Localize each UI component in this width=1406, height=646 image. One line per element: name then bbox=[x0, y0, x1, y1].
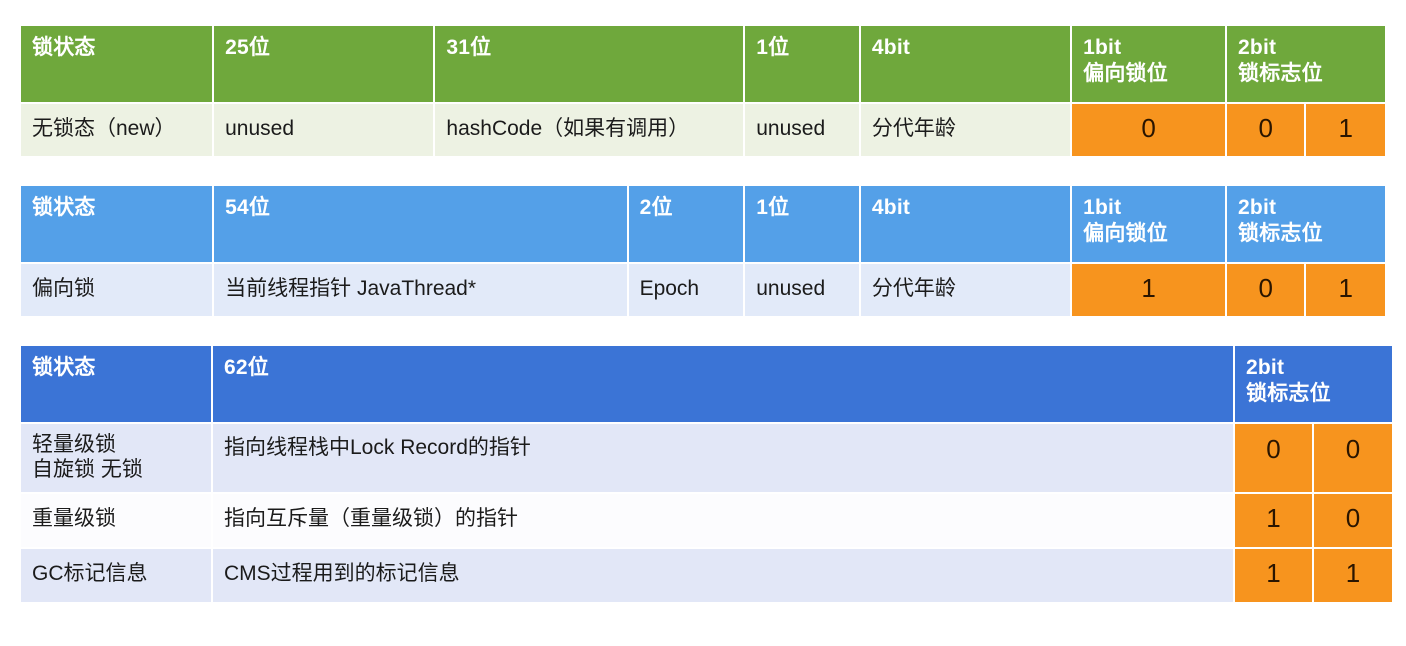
header-text-line1: 1bit bbox=[1083, 196, 1121, 219]
header-text: 31位 bbox=[446, 36, 491, 59]
cell-4bit: 分代年龄 bbox=[861, 264, 1070, 316]
table-header-row: 锁状态 25位 31位 1位 4bit 1bit 偏向锁位 2bit 锁标志位 bbox=[21, 26, 1385, 102]
header-54bit: 54位 bbox=[214, 186, 626, 262]
header-text-line2: 偏向锁位 bbox=[1083, 61, 1215, 87]
cell-epoch: Epoch bbox=[629, 264, 744, 316]
header-text-line2: 锁标志位 bbox=[1246, 381, 1382, 407]
cell-62bit: CMS过程用到的标记信息 bbox=[213, 549, 1233, 602]
header-25bit: 25位 bbox=[214, 26, 433, 102]
cell-lock-flag-bit-2: 1 bbox=[1306, 264, 1385, 316]
header-text: 4bit bbox=[872, 36, 910, 59]
header-1bit-unused: 1位 bbox=[745, 186, 859, 262]
cell-54bit: 当前线程指针 JavaThread* bbox=[214, 264, 626, 316]
header-text-line2: 锁标志位 bbox=[1238, 221, 1375, 247]
cell-lock-flag-bit-2: 1 bbox=[1314, 549, 1392, 602]
header-text-line2: 偏向锁位 bbox=[1083, 221, 1215, 247]
header-2bit-lockflag: 2bit 锁标志位 bbox=[1227, 186, 1385, 262]
table-header-row: 锁状态 62位 2bit 锁标志位 bbox=[21, 346, 1392, 422]
table-row: GC标记信息 CMS过程用到的标记信息 1 1 bbox=[21, 549, 1392, 602]
cell-lock-flag-bit-2: 0 bbox=[1314, 424, 1392, 492]
cell-biased-bit: 0 bbox=[1072, 104, 1225, 156]
header-text-line1: 2bit bbox=[1246, 356, 1284, 379]
header-text: 锁状态 bbox=[32, 36, 96, 59]
header-2bit-lockflag: 2bit 锁标志位 bbox=[1227, 26, 1385, 102]
biased-lock-table: 锁状态 54位 2位 1位 4bit 1bit 偏向锁位 2bit 锁标志位 偏… bbox=[19, 184, 1387, 318]
cell-4bit: 分代年龄 bbox=[861, 104, 1070, 156]
header-text: 4bit bbox=[872, 196, 910, 219]
header-1bit-biased: 1bit 偏向锁位 bbox=[1072, 26, 1225, 102]
header-lock-state: 锁状态 bbox=[21, 26, 212, 102]
no-lock-table: 锁状态 25位 31位 1位 4bit 1bit 偏向锁位 2bit 锁标志位 … bbox=[19, 24, 1387, 158]
mark-word-diagram: 锁状态 25位 31位 1位 4bit 1bit 偏向锁位 2bit 锁标志位 … bbox=[0, 0, 1406, 646]
cell-lock-state: GC标记信息 bbox=[21, 549, 211, 602]
table-row: 偏向锁 当前线程指针 JavaThread* Epoch unused 分代年龄… bbox=[21, 264, 1385, 316]
table-header-row: 锁状态 54位 2位 1位 4bit 1bit 偏向锁位 2bit 锁标志位 bbox=[21, 186, 1385, 262]
table-row: 无锁态（new） unused hashCode（如果有调用） unused 分… bbox=[21, 104, 1385, 156]
header-31bit: 31位 bbox=[435, 26, 743, 102]
cell-lock-flag-bit-2: 1 bbox=[1306, 104, 1385, 156]
cell-1bit: unused bbox=[745, 264, 859, 316]
cell-25bit: unused bbox=[214, 104, 433, 156]
header-4bit-age: 4bit bbox=[861, 186, 1070, 262]
header-2bit-lockflag: 2bit 锁标志位 bbox=[1235, 346, 1392, 422]
header-text: 25位 bbox=[225, 36, 270, 59]
cell-1bit: unused bbox=[745, 104, 859, 156]
table-row: 轻量级锁 自旋锁 无锁 指向线程栈中Lock Record的指针 0 0 bbox=[21, 424, 1392, 492]
cell-lock-flag-bit-1: 0 bbox=[1227, 104, 1304, 156]
header-text: 62位 bbox=[224, 356, 269, 379]
header-1bit-unused: 1位 bbox=[745, 26, 859, 102]
header-text: 锁状态 bbox=[32, 356, 96, 379]
header-1bit-biased: 1bit 偏向锁位 bbox=[1072, 186, 1225, 262]
lightweight-heavyweight-table: 锁状态 62位 2bit 锁标志位 轻量级锁 自旋锁 无锁 指向线程栈中Lock… bbox=[19, 344, 1394, 604]
cell-lock-flag-bit-2: 0 bbox=[1314, 494, 1392, 547]
cell-lock-state: 轻量级锁 自旋锁 无锁 bbox=[21, 424, 211, 492]
cell-62bit: 指向线程栈中Lock Record的指针 bbox=[213, 424, 1233, 492]
header-2bit-epoch: 2位 bbox=[629, 186, 744, 262]
header-text-line1: 2bit bbox=[1238, 196, 1276, 219]
header-lock-state: 锁状态 bbox=[21, 186, 212, 262]
cell-lock-state: 重量级锁 bbox=[21, 494, 211, 547]
cell-lock-flag-bit-1: 1 bbox=[1235, 494, 1312, 547]
header-lock-state: 锁状态 bbox=[21, 346, 211, 422]
header-text: 锁状态 bbox=[32, 196, 96, 219]
cell-lock-state: 偏向锁 bbox=[21, 264, 212, 316]
cell-lock-state-line1: 轻量级锁 bbox=[32, 433, 116, 456]
table-row: 重量级锁 指向互斥量（重量级锁）的指针 1 0 bbox=[21, 494, 1392, 547]
cell-lock-state: 无锁态（new） bbox=[21, 104, 212, 156]
cell-biased-bit: 1 bbox=[1072, 264, 1225, 316]
cell-lock-flag-bit-1: 0 bbox=[1235, 424, 1312, 492]
header-4bit-age: 4bit bbox=[861, 26, 1070, 102]
header-62bit: 62位 bbox=[213, 346, 1233, 422]
cell-lock-state-line2: 自旋锁 无锁 bbox=[32, 458, 143, 481]
header-text-line1: 1bit bbox=[1083, 36, 1121, 59]
header-text: 1位 bbox=[756, 196, 789, 219]
header-text: 54位 bbox=[225, 196, 270, 219]
cell-31bit: hashCode（如果有调用） bbox=[435, 104, 743, 156]
header-text-line2: 锁标志位 bbox=[1238, 61, 1375, 87]
header-text: 2位 bbox=[640, 196, 673, 219]
cell-lock-flag-bit-1: 0 bbox=[1227, 264, 1304, 316]
cell-lock-flag-bit-1: 1 bbox=[1235, 549, 1312, 602]
header-text-line1: 2bit bbox=[1238, 36, 1276, 59]
cell-62bit: 指向互斥量（重量级锁）的指针 bbox=[213, 494, 1233, 547]
header-text: 1位 bbox=[756, 36, 789, 59]
